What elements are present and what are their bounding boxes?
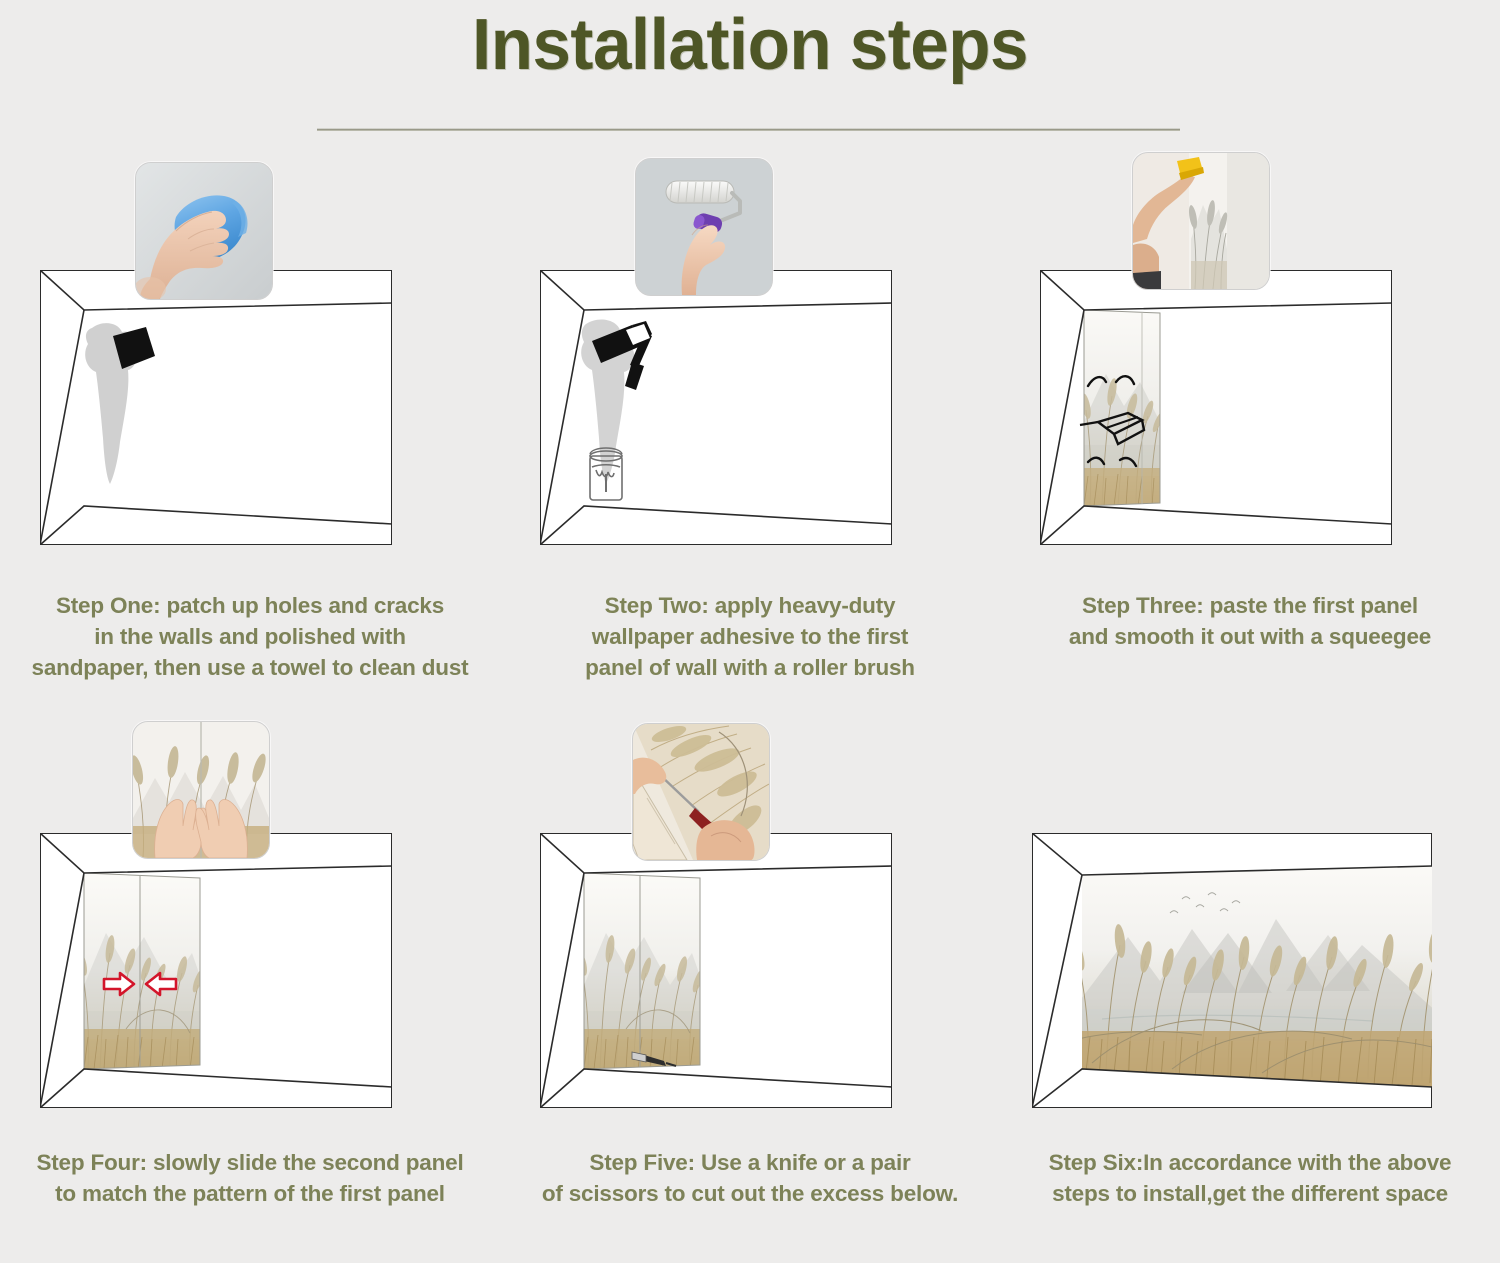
page-title: Installation steps bbox=[30, 8, 1470, 84]
step-three-caption: Step Three: paste the first panel and sm… bbox=[1010, 590, 1490, 652]
step-four-caption: Step Four: slowly slide the second panel… bbox=[10, 1147, 490, 1209]
page-header: Installation steps bbox=[0, 0, 1500, 84]
title-divider bbox=[317, 128, 1180, 131]
inset-photo-paint-roller bbox=[635, 158, 773, 296]
paint-bucket-icon bbox=[590, 448, 622, 500]
step-five-illustration bbox=[520, 713, 980, 1143]
caption-line: in the walls and polished with bbox=[10, 621, 490, 652]
room-perspective-lines bbox=[40, 270, 392, 545]
step-card-two: Step Two: apply heavy-duty wallpaper adh… bbox=[500, 150, 1000, 683]
caption-line: panel of wall with a roller brush bbox=[510, 652, 990, 683]
room-diagram bbox=[540, 833, 892, 1108]
step-one-caption: Step One: patch up holes and cracks in t… bbox=[10, 590, 490, 683]
step-six-illustration bbox=[1020, 713, 1480, 1143]
caption-line: and smooth it out with a squeegee bbox=[1010, 621, 1490, 652]
room-diagram bbox=[1040, 270, 1392, 545]
step-six-caption: Step Six:In accordance with the above st… bbox=[1010, 1147, 1490, 1209]
hand-wiping-wall-with-blue-cloth-icon bbox=[136, 163, 272, 299]
two-hands-sliding-wallpaper-panels-icon bbox=[133, 722, 269, 858]
caption-line: steps to install,get the different space bbox=[1010, 1178, 1490, 1209]
room-perspective-lines bbox=[1032, 833, 1432, 1108]
room-diagram bbox=[540, 270, 892, 545]
caption-line: Step Three: paste the first panel bbox=[1010, 590, 1490, 621]
caption-line: Step Five: Use a knife or a pair bbox=[510, 1147, 990, 1178]
caption-line: sandpaper, then use a towel to clean dus… bbox=[10, 652, 490, 683]
step-card-one: Step One: patch up holes and cracks in t… bbox=[0, 150, 500, 683]
inset-photo-sliding-panels bbox=[132, 721, 270, 859]
hand-holding-paint-roller-icon bbox=[636, 159, 772, 295]
step-card-five: Step Five: Use a knife or a pair of scis… bbox=[500, 713, 1000, 1209]
step-four-illustration bbox=[20, 713, 480, 1143]
caption-line: Step Six:In accordance with the above bbox=[1010, 1147, 1490, 1178]
step-three-illustration bbox=[1020, 150, 1480, 580]
room-diagram bbox=[1032, 833, 1432, 1108]
caption-line: wallpaper adhesive to the first bbox=[510, 621, 990, 652]
step-five-caption: Step Five: Use a knife or a pair of scis… bbox=[510, 1147, 990, 1209]
person-smoothing-wallpaper-with-yellow-squeegee-icon bbox=[1133, 153, 1269, 289]
step-card-six: Step Six:In accordance with the above st… bbox=[1000, 713, 1500, 1209]
room-perspective-lines bbox=[540, 270, 892, 545]
room-perspective-lines bbox=[540, 833, 892, 1108]
steps-row-top: Step One: patch up holes and cracks in t… bbox=[0, 150, 1500, 683]
step-two-caption: Step Two: apply heavy-duty wallpaper adh… bbox=[510, 590, 990, 683]
step-card-three: Step Three: paste the first panel and sm… bbox=[1000, 150, 1500, 683]
inset-photo-hand-wiping bbox=[135, 162, 273, 300]
step-one-illustration bbox=[20, 150, 480, 580]
steps-grid: Step One: patch up holes and cracks in t… bbox=[0, 150, 1500, 1209]
room-diagram bbox=[40, 270, 392, 545]
full-wall-mural bbox=[1069, 861, 1432, 1093]
room-diagram bbox=[40, 833, 392, 1108]
room-perspective-lines bbox=[1040, 270, 1392, 545]
caption-line: of scissors to cut out the excess below. bbox=[510, 1178, 990, 1209]
step-two-illustration bbox=[520, 150, 980, 580]
steps-row-bottom: Step Four: slowly slide the second panel… bbox=[0, 713, 1500, 1209]
step-card-four: Step Four: slowly slide the second panel… bbox=[0, 713, 500, 1209]
room-perspective-lines bbox=[40, 833, 392, 1108]
caption-line: to match the pattern of the first panel bbox=[10, 1178, 490, 1209]
hands-cutting-wallpaper-with-utility-knife-icon bbox=[633, 724, 769, 860]
wallpaper-panel bbox=[1079, 306, 1166, 512]
caption-line: Step Two: apply heavy-duty bbox=[510, 590, 990, 621]
caption-line: Step One: patch up holes and cracks bbox=[10, 590, 490, 621]
inset-photo-squeegee bbox=[1132, 152, 1270, 290]
inset-photo-cutting-knife bbox=[632, 723, 770, 861]
caption-line: Step Four: slowly slide the second panel bbox=[10, 1147, 490, 1178]
